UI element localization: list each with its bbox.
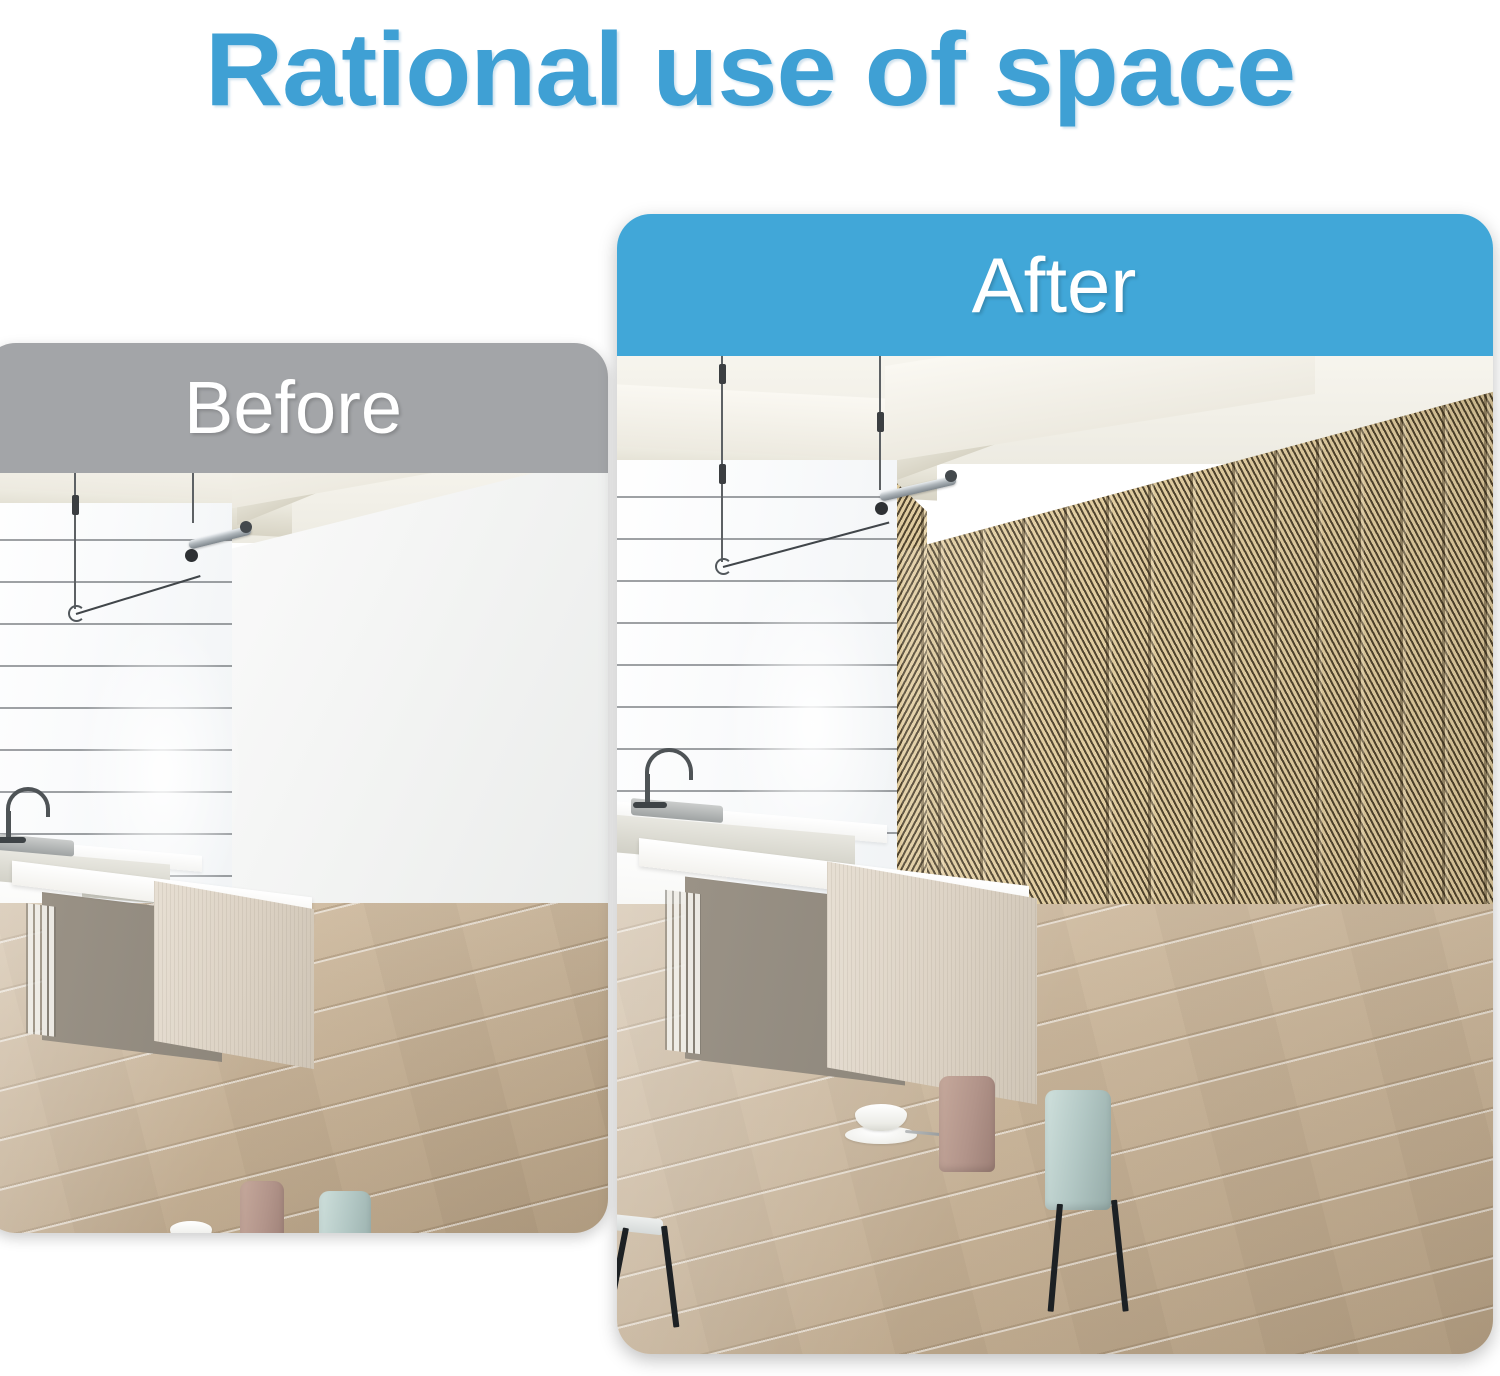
faucet-base	[0, 837, 26, 843]
island-slat-front	[665, 890, 701, 1054]
chair-back-brown	[240, 1181, 284, 1233]
after-photo: After	[617, 214, 1493, 1354]
bowl	[170, 1221, 212, 1233]
before-image-card[interactable]: Before	[0, 343, 608, 1233]
before-banner: Before	[0, 343, 608, 473]
pendant-cable-left	[721, 324, 723, 562]
pendant-clip-left-upper	[719, 364, 726, 384]
after-image-card[interactable]: After	[617, 214, 1493, 1354]
dining-table-end-panel	[827, 861, 1037, 1104]
before-photo: Before	[0, 343, 608, 1233]
pendant-clip-left-lower	[72, 495, 79, 515]
faucet-base	[633, 802, 667, 808]
pendant-pivot	[185, 549, 198, 562]
pendant-end-cap	[945, 470, 957, 482]
page-title-text: Rational use of space	[205, 18, 1295, 122]
after-banner: After	[617, 214, 1493, 356]
dining-table-end-panel	[154, 881, 314, 1069]
chair-back-grey	[319, 1191, 371, 1233]
chair-back-grey	[1045, 1090, 1111, 1210]
faucet-stem	[645, 774, 650, 804]
pendant-end-cap	[240, 521, 252, 533]
chair-back-brown	[939, 1076, 995, 1172]
faucet-stem	[6, 811, 11, 839]
before-banner-label: Before	[184, 371, 406, 445]
pendant-pivot	[875, 502, 888, 515]
pendant-clip-left-lower	[719, 464, 726, 484]
pendant-clip-right	[877, 412, 884, 432]
island-slat-front	[26, 903, 56, 1037]
page-title: Rational use of space	[0, 0, 1500, 140]
after-banner-label: After	[972, 246, 1139, 324]
